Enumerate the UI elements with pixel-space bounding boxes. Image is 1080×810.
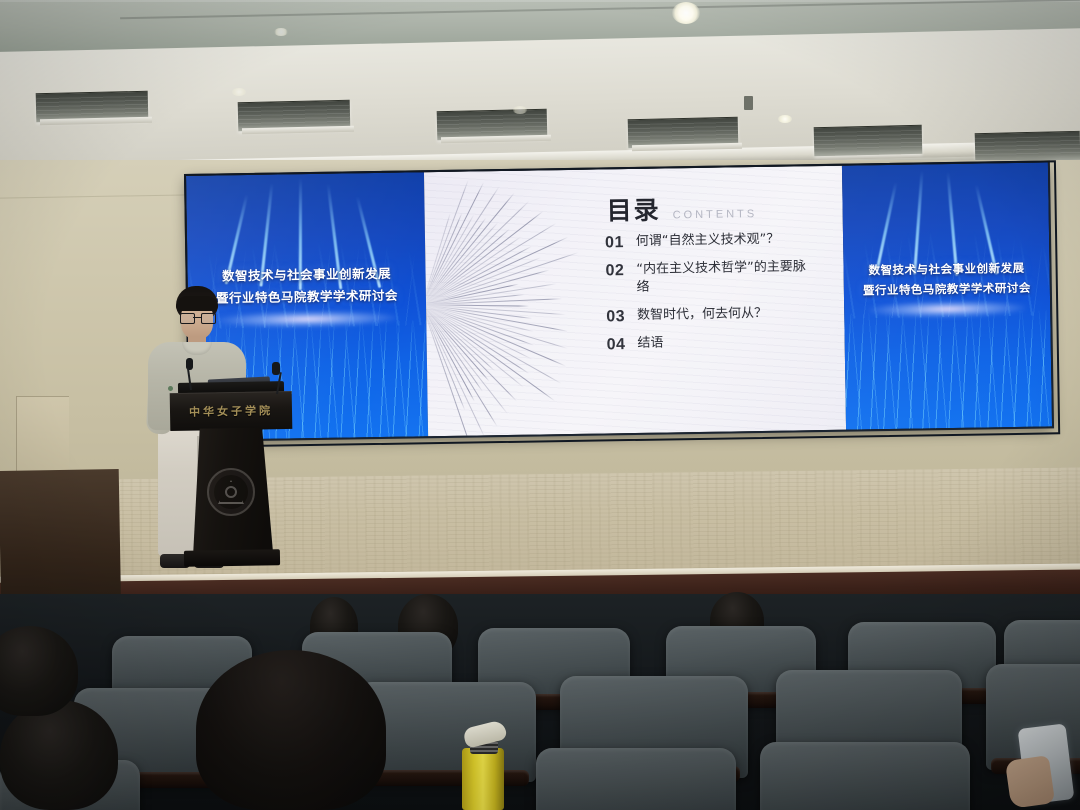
wall-recessed-panel: [16, 396, 69, 479]
toc-item-text: “内在主义技术哲学”的主要脉络: [636, 258, 815, 298]
audience-head-foreground: [196, 650, 386, 810]
toc-item: 02“内在主义技术哲学”的主要脉络: [605, 258, 830, 298]
presenter-fringe: [176, 296, 218, 311]
slide-heading-en: CONTENTS: [673, 208, 758, 221]
ceiling-downlight: [274, 28, 288, 36]
led-right-title-line2: 暨行业特色马院教学学术研讨会: [852, 278, 1042, 301]
seal-center-dot: [225, 486, 237, 498]
slide-heading-cn: 目录: [606, 191, 661, 228]
toc-item: 01何谓“自然主义技术观”？: [605, 230, 829, 253]
led-right-title: 数智技术与社会事业创新发展 暨行业特色马院教学学术研讨会: [843, 257, 1050, 300]
led-panel-right: 数智技术与社会事业创新发展 暨行业特色马院教学学术研讨会: [842, 162, 1052, 429]
air-vent: [814, 125, 923, 156]
toc-item-number: 02: [605, 261, 624, 280]
led-left-title-line1: 数智技术与社会事业创新发展: [195, 262, 417, 287]
university-seal-icon: [207, 468, 255, 516]
toc-item-number: 03: [606, 307, 625, 326]
led-video-wall: 数智技术与社会事业创新发展 暨行业特色马院教学学术研讨会 目录 CONTENTS…: [186, 162, 1052, 440]
toc-item-text: 结语: [637, 334, 663, 353]
glasses-lens-right: [201, 313, 216, 324]
ceiling-spotlight: [513, 106, 527, 114]
lectern: 中华女子学院: [170, 382, 292, 568]
ceiling-spotlight: [232, 88, 246, 96]
auditorium-seat[interactable]: [760, 742, 970, 810]
lectern-nameplate-text: 中华女子学院: [170, 402, 292, 420]
presentation-slide: 目录 CONTENTS 01何谓“自然主义技术观”？02“内在主义技术哲学”的主…: [424, 166, 846, 437]
lectern-base: [184, 549, 280, 567]
glasses-bridge: [193, 317, 201, 318]
audience-hand: [1005, 755, 1055, 809]
light-stream-graphic: [842, 310, 1052, 430]
toc-item-number: 01: [605, 233, 624, 252]
toc-item-number: 04: [607, 335, 626, 354]
toc-item: 04结语: [607, 332, 831, 355]
ceiling-sensor: [744, 96, 753, 110]
ceiling-spotlight: [778, 115, 792, 123]
lectern-nameplate-panel: 中华女子学院: [170, 391, 293, 431]
slide-content: 目录 CONTENTS 01何谓“自然主义技术观”？02“内在主义技术哲学”的主…: [424, 166, 846, 437]
toc-item-text: 数智时代，何去何从？: [637, 305, 767, 325]
glasses-lens-left: [180, 313, 195, 324]
glasses-icon: [180, 313, 214, 322]
audience-head-foreground: [0, 700, 118, 810]
auditorium-seat[interactable]: [536, 748, 736, 810]
slide-heading-row: 目录 CONTENTS: [606, 189, 757, 227]
lecture-hall-photo: 数智技术与社会事业创新发展 暨行业特色马院教学学术研讨会 目录 CONTENTS…: [0, 0, 1080, 810]
ceiling-downlight: [672, 2, 700, 24]
yellow-thermos-bottle[interactable]: [462, 748, 504, 810]
toc-item-text: 何谓“自然主义技术观”？: [636, 231, 780, 252]
air-vent: [975, 131, 1080, 162]
table-of-contents: 01何谓“自然主义技术观”？02“内在主义技术哲学”的主要脉络03数智时代，何去…: [605, 230, 831, 363]
toc-item: 03数智时代，何去何从？: [606, 304, 830, 327]
